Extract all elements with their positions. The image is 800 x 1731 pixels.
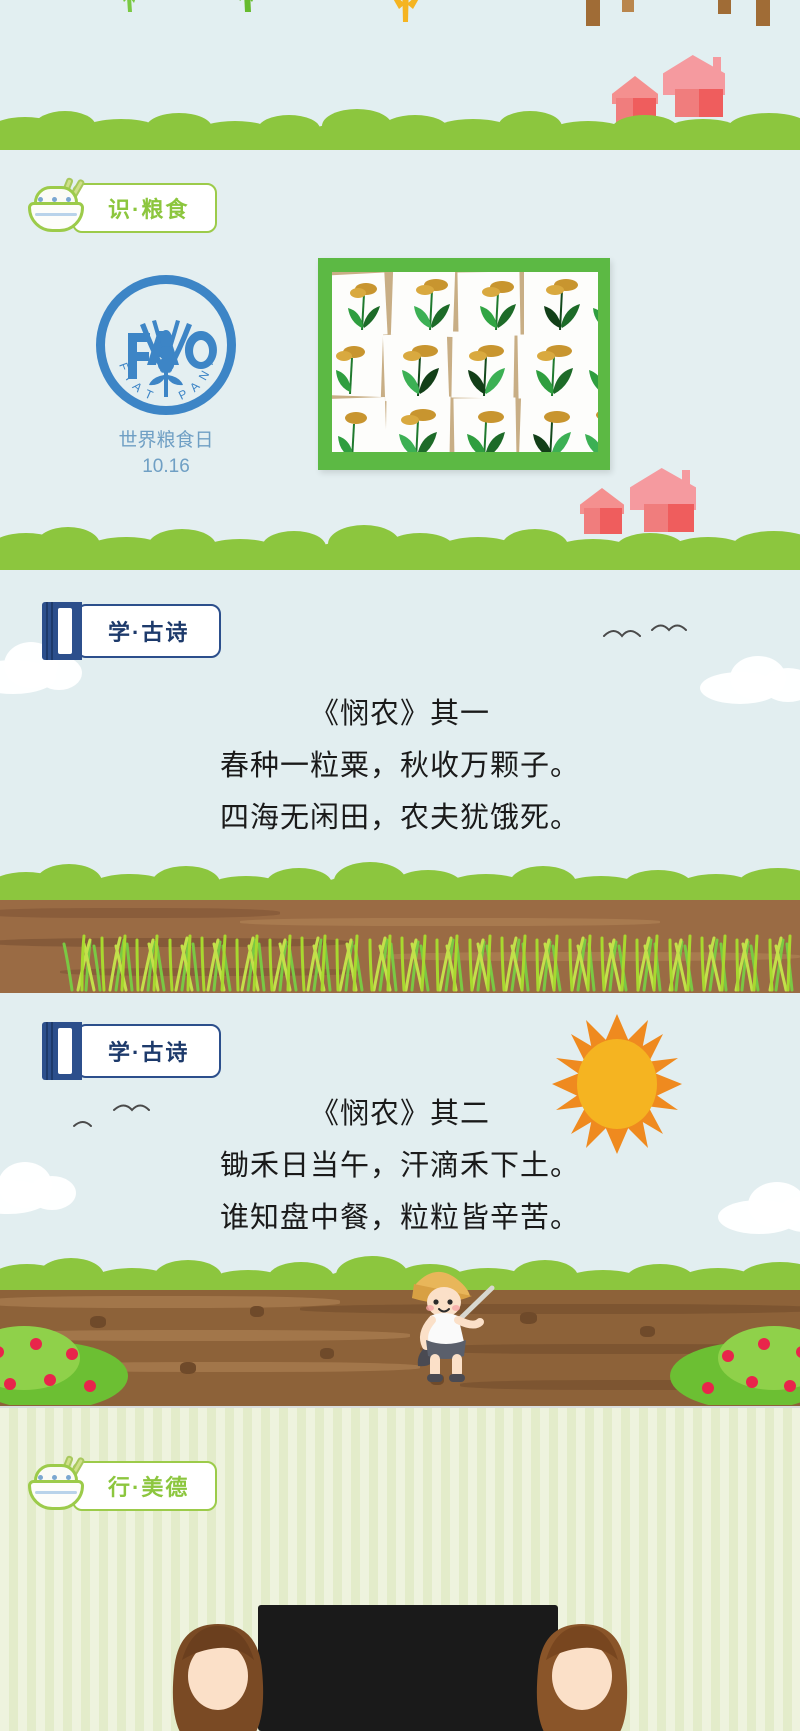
- poem-title: 《悯农》其二: [0, 1090, 800, 1132]
- tree-icon: [586, 0, 600, 26]
- virtue-section-panel: 行·美德: [0, 1408, 800, 1731]
- badge-xue-gushi-1[interactable]: 学·古诗: [42, 602, 221, 660]
- poem-line: 锄禾日当午，汗滴禾下土。: [0, 1142, 800, 1184]
- badge-xing-meide[interactable]: 行·美德: [26, 1460, 217, 1512]
- fao-caption-text: 世界粮食日: [96, 428, 236, 454]
- farmer-with-hoe-icon: [396, 1262, 556, 1384]
- book-icon: [42, 602, 82, 660]
- badge-label: 行·美德: [72, 1461, 217, 1511]
- kid-avatar: [520, 1620, 644, 1731]
- fao-emblem-icon: F I A T P A N I S: [96, 275, 236, 415]
- top-scene-panel: [0, 0, 800, 150]
- poem2-section-panel: 学·古诗: [0, 1000, 800, 1408]
- rice-bowl-icon: [26, 1460, 88, 1512]
- berry-bush-icon: [640, 1300, 800, 1405]
- badge-shi-liangshi[interactable]: 识·粮食: [26, 182, 217, 234]
- badge-label: 识·粮食: [72, 183, 217, 233]
- bird-icon: [600, 622, 690, 648]
- badge-xue-gushi-2[interactable]: 学·古诗: [42, 1022, 221, 1080]
- poem-title: 《悯农》其一: [0, 690, 800, 732]
- badge-label: 学·古诗: [76, 1024, 221, 1078]
- student-artwork-photo: [318, 258, 610, 470]
- poem1-section-panel: 学·古诗 《悯农》其一 春种一粒粟，秋收万颗子。 四海无闲田，农夫犹饿死。: [0, 570, 800, 1000]
- poem-line: 谁知盘中餐，粒粒皆辛苦。: [0, 1194, 800, 1236]
- tree-icon: [756, 0, 770, 26]
- sun-icon: [552, 1014, 682, 1154]
- badge-label: 学·古诗: [76, 604, 221, 658]
- tree-icon: [718, 0, 731, 14]
- food-section-panel: 识·粮食: [0, 150, 800, 570]
- photo-inner: [332, 272, 598, 452]
- book-icon: [42, 1022, 82, 1080]
- grass-base: [0, 136, 800, 150]
- poem-line: 春种一粒粟，秋收万颗子。: [0, 742, 800, 784]
- poem-line: 四海无闲田，农夫犹饿死。: [0, 794, 800, 836]
- rice-field: [0, 896, 800, 992]
- poster-page: 识·粮食: [0, 0, 800, 1731]
- fao-logo: F I A T P A N I S: [96, 275, 236, 415]
- grass-base: [0, 556, 800, 570]
- tree-icon: [378, 0, 434, 27]
- berry-bush-icon: [0, 1300, 160, 1405]
- tree-icon: [622, 0, 634, 12]
- blackboard: [258, 1605, 558, 1731]
- rice-bowl-icon: [26, 182, 88, 234]
- fao-date-text: 10.16: [96, 454, 236, 480]
- kid-avatar: [156, 1620, 280, 1731]
- rice-drawings-icon: [332, 272, 598, 452]
- tree-icon: [110, 0, 150, 17]
- tree-icon: [225, 0, 269, 17]
- fao-caption: 世界粮食日 10.16: [96, 428, 236, 479]
